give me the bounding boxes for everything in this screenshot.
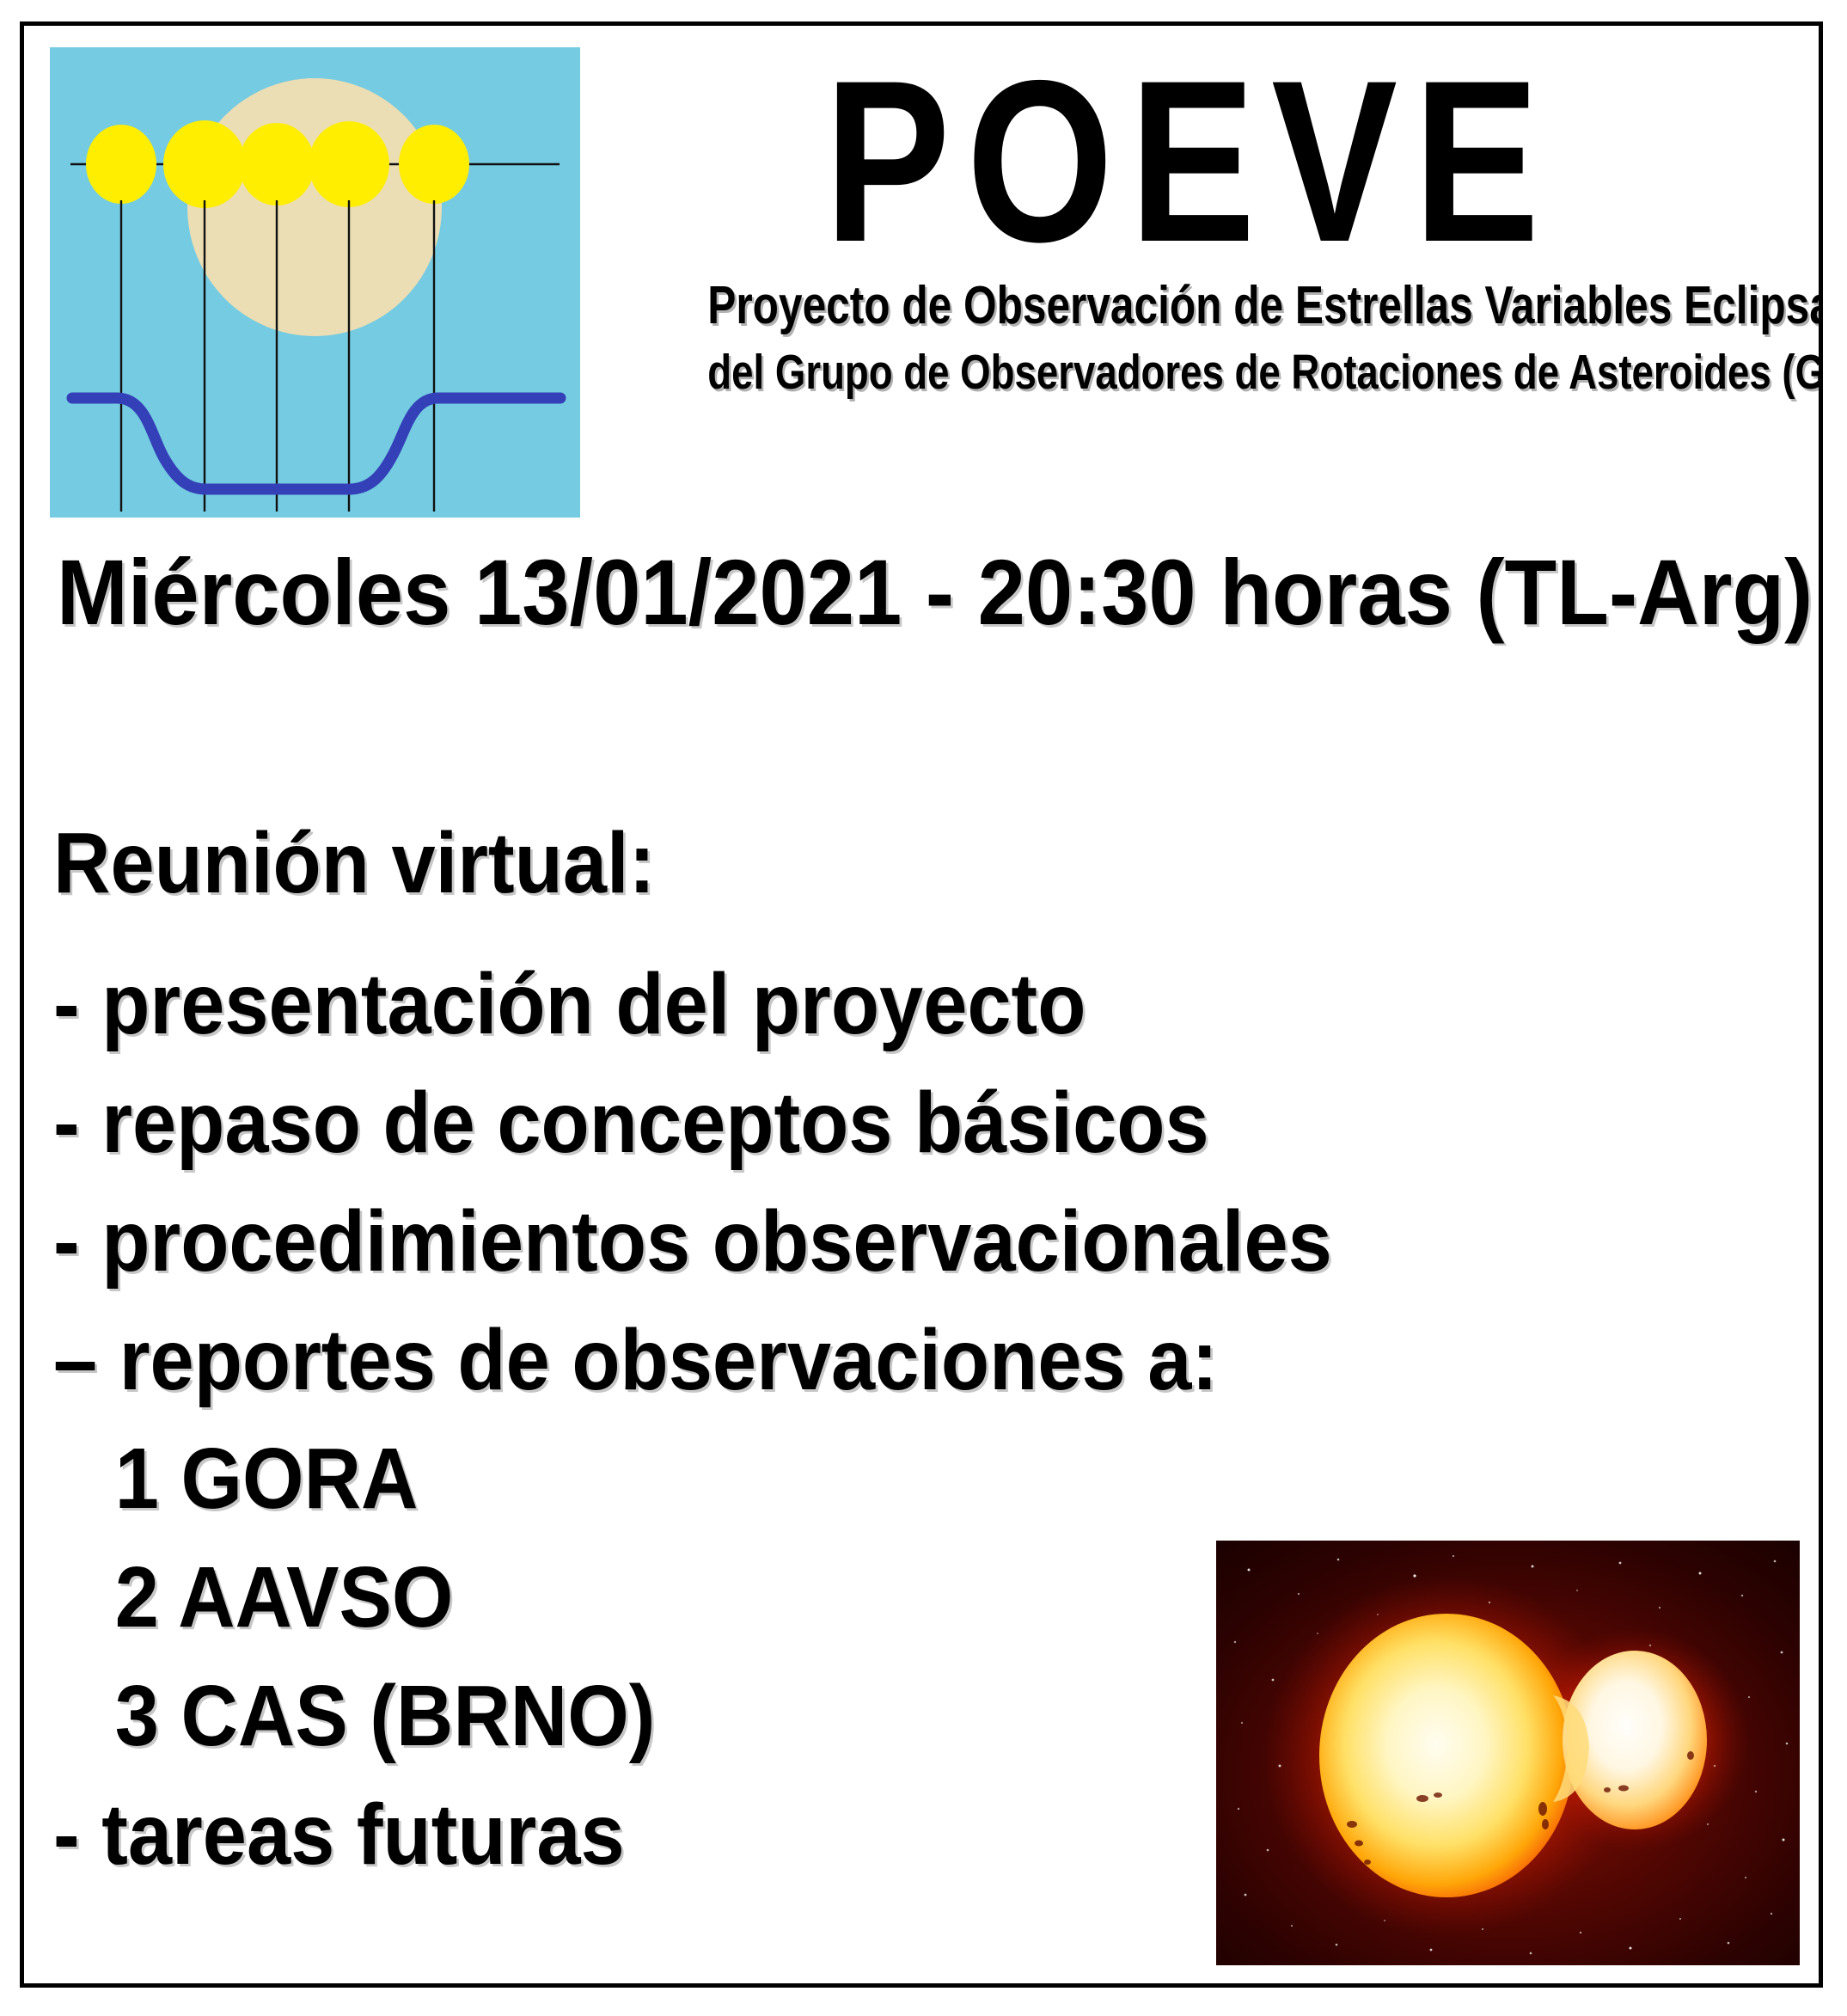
companion-pos-1 xyxy=(86,125,156,204)
light-curve-path xyxy=(72,398,560,489)
eclipsing-binary-transit-diagram-icon xyxy=(50,47,580,518)
companion-pos-5 xyxy=(399,125,469,204)
agenda-subitem-cas-brno: 3 CAS (BRNO) xyxy=(53,1657,1239,1775)
page-title: POEVE xyxy=(695,33,1684,274)
agenda-item-presentacion: - presentación del proyecto xyxy=(53,945,1239,1063)
agenda-item-repaso: - repaso de conceptos básicos xyxy=(53,1063,1239,1182)
agenda-list: Reunión virtual: - presentación del proy… xyxy=(53,804,1342,1894)
primary-star xyxy=(1319,1614,1574,1897)
agenda-item-reportes: – reportes de observaciones a: xyxy=(53,1301,1239,1419)
subtitle-secondary: del Grupo de Observadores de Rotaciones … xyxy=(707,346,1672,401)
wordmark-block: POEVE Proyecto de Observación de Estrell… xyxy=(587,33,1793,401)
subtitle-primary: Proyecto de Observación de Estrellas Var… xyxy=(707,276,1672,335)
agenda-item-procedimientos: - procedimientos observacionales xyxy=(53,1182,1239,1301)
contact-binary-star-illustration xyxy=(1216,1541,1800,1965)
poster-header: POEVE Proyecto de Observación de Estrell… xyxy=(24,26,1819,507)
meeting-datetime: Miércoles 13/01/2021 - 20:30 horas (TL-A… xyxy=(57,542,1813,644)
companion-pos-4 xyxy=(309,121,389,207)
primary-star-disk xyxy=(187,78,442,336)
agenda-item-tareas-futuras: - tareas futuras xyxy=(53,1775,1239,1894)
companion-pos-2 xyxy=(163,120,246,208)
companion-pos-3 xyxy=(239,123,315,205)
agenda-heading: Reunión virtual: xyxy=(53,804,1239,922)
poster-frame: POEVE Proyecto de Observación de Estrell… xyxy=(20,21,1823,1988)
agenda-subitem-aavso: 2 AAVSO xyxy=(53,1538,1239,1657)
agenda-subitem-gora: 1 GORA xyxy=(53,1419,1239,1538)
